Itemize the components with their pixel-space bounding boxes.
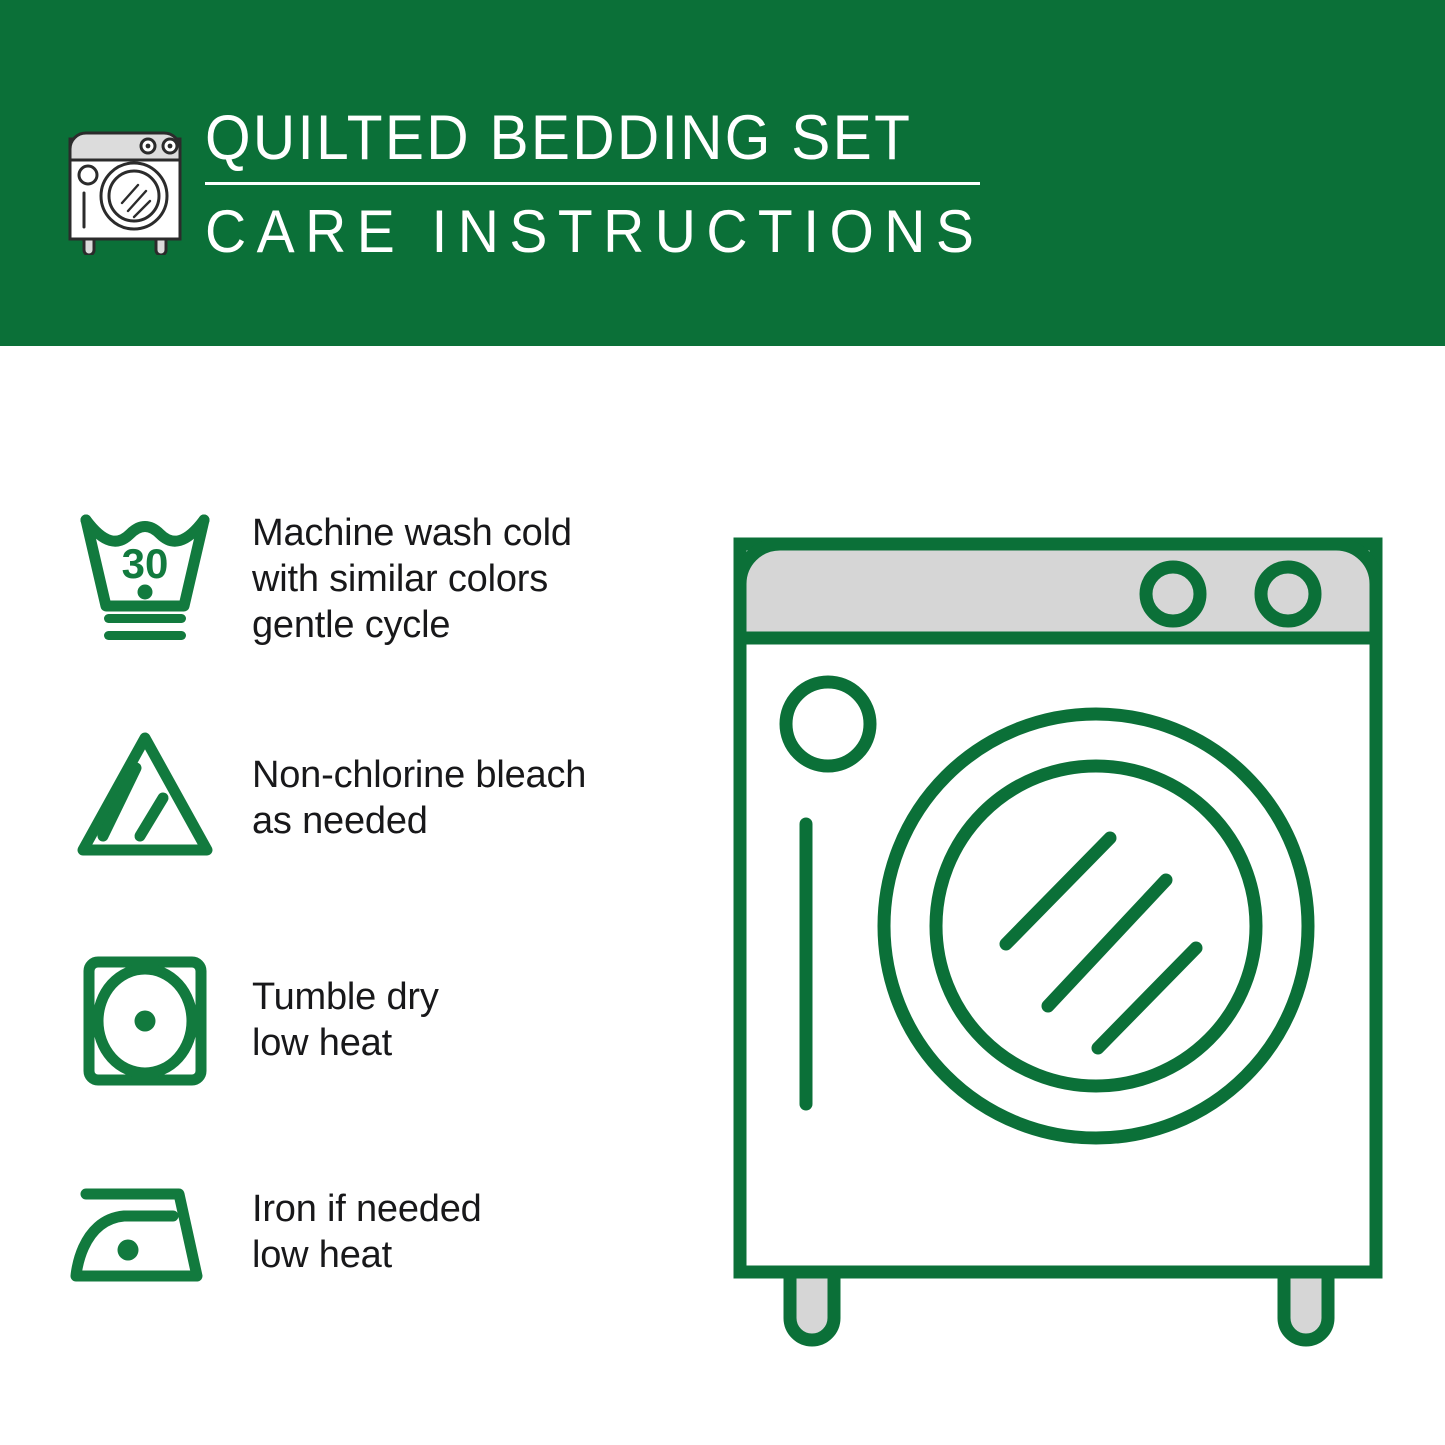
care-item: Tumble dry low heat — [0, 946, 700, 1096]
care-instruction-list: 30 Machine wash cold with similar colors… — [0, 346, 700, 1445]
care-item-line: Machine wash cold — [252, 510, 700, 556]
care-item-label: Iron if needed low heat — [252, 1158, 700, 1278]
wash-tub-30-icon: 30 — [60, 498, 230, 648]
care-item: 30 Machine wash cold with similar colors… — [0, 498, 700, 648]
svg-text:30: 30 — [122, 540, 169, 587]
header-text-block: QUILTED BEDDING SET CARE INSTRUCTIONS — [205, 101, 995, 265]
title-divider — [205, 182, 980, 185]
non-chlorine-bleach-triangle-icon — [60, 724, 230, 874]
detergent-port — [786, 682, 870, 766]
leg-right — [1284, 1272, 1328, 1340]
care-item-label: Machine wash cold with similar colors ge… — [252, 498, 700, 648]
care-item-line: gentle cycle — [252, 602, 700, 648]
care-item-line: Tumble dry — [252, 974, 700, 1020]
page-title: QUILTED BEDDING SET — [205, 101, 940, 175]
iron-low-heat-icon — [60, 1158, 230, 1308]
tumble-dry-low-icon — [60, 946, 230, 1096]
care-item-label: Tumble dry low heat — [252, 946, 700, 1066]
care-item-line: low heat — [252, 1232, 700, 1278]
care-item-line: with similar colors — [252, 556, 700, 602]
care-item-line: low heat — [252, 1020, 700, 1066]
leg-left — [790, 1272, 834, 1340]
header-band: QUILTED BEDDING SET CARE INSTRUCTIONS — [0, 0, 1445, 346]
washing-machine-icon — [62, 103, 188, 255]
door-inner-ring — [936, 766, 1256, 1086]
front-load-washing-machine-illustration — [718, 466, 1398, 1366]
care-item-label: Non-chlorine bleach as needed — [252, 724, 700, 844]
care-item-line: Non-chlorine bleach — [252, 752, 700, 798]
care-item-line: Iron if needed — [252, 1186, 700, 1232]
page-subtitle: CARE INSTRUCTIONS — [205, 199, 956, 265]
care-item: Iron if needed low heat — [0, 1158, 700, 1308]
knob-left — [1146, 567, 1200, 621]
knob-right — [1261, 567, 1315, 621]
care-instructions-page: QUILTED BEDDING SET CARE INSTRUCTIONS 30 — [0, 0, 1445, 1445]
care-item: Non-chlorine bleach as needed — [0, 724, 700, 874]
care-item-line: as needed — [252, 798, 700, 844]
